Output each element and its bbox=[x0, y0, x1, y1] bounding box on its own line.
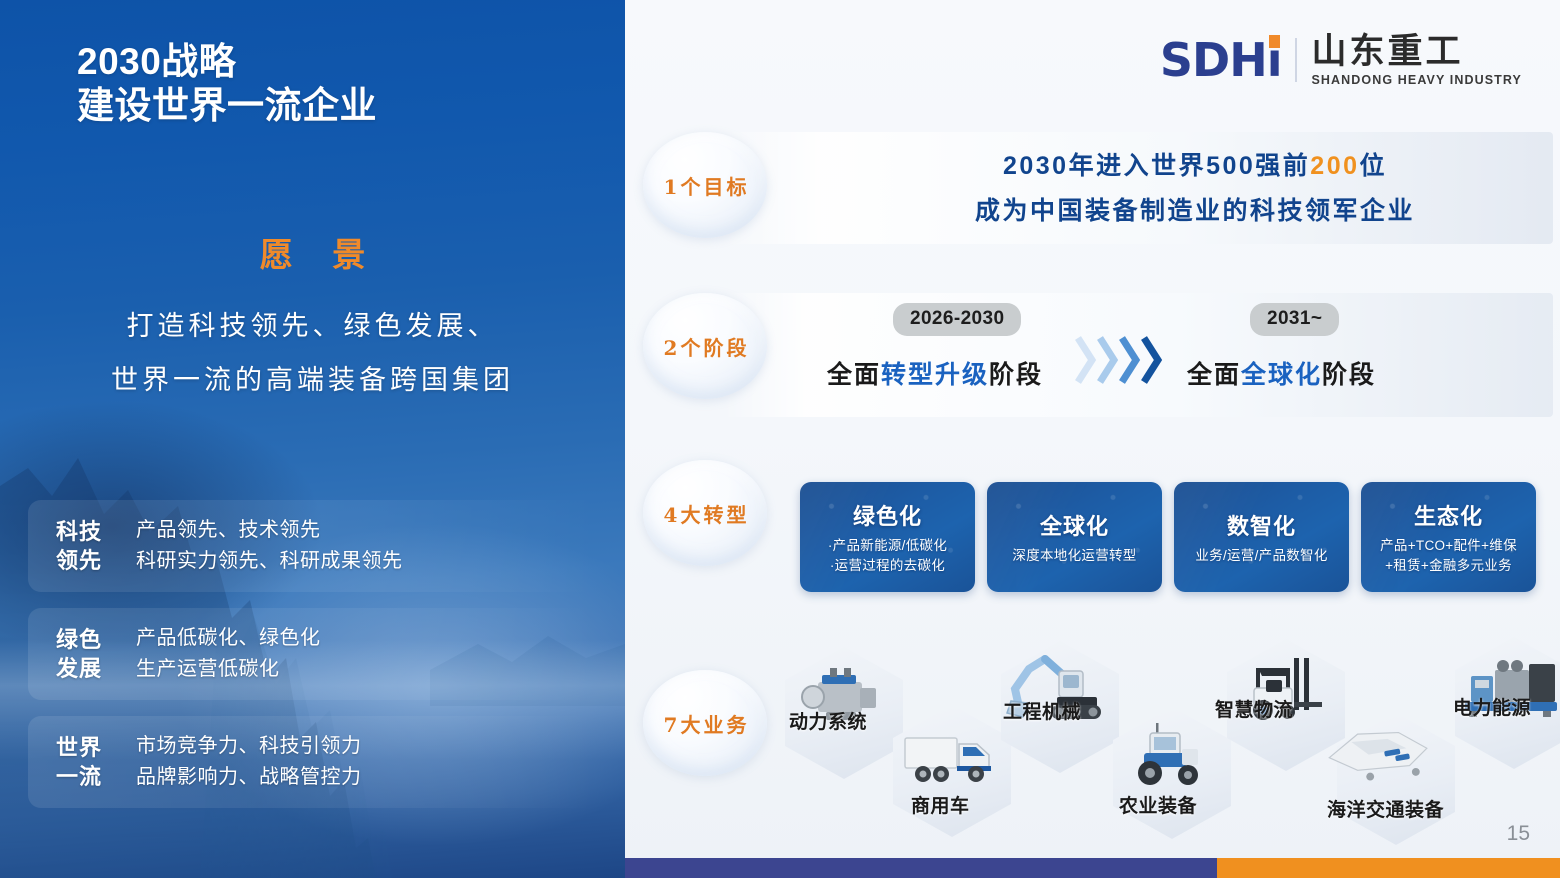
pillar-value-line-2: 生产运营低碳化 bbox=[136, 654, 321, 685]
bubble-businesses[interactable]: 7大业务 bbox=[643, 670, 767, 776]
chevron-right-icon bbox=[1097, 335, 1119, 385]
company-logo: SDHi 山东重工 SHANDONG HEAVY INDUSTRY bbox=[1160, 34, 1522, 87]
pillar-value-line-1: 市场竞争力、科技引领力 bbox=[136, 731, 362, 762]
row-stages: 2个阶段 2026-2030 全面转型升级阶段 2031~ 全面全球化阶段 bbox=[625, 293, 1560, 417]
pillar-value-line-1: 产品低碳化、绿色化 bbox=[136, 623, 321, 654]
slide: 2030战略 建设世界一流企业 愿 景 打造科技领先、绿色发展、 世界一流的高端… bbox=[0, 0, 1560, 878]
logo-accent-dot-icon bbox=[1269, 35, 1280, 48]
engine-icon bbox=[785, 631, 903, 763]
page-number: 15 bbox=[1507, 822, 1530, 846]
pillar-value-line-2: 科研实力领先、科研成果领先 bbox=[136, 546, 403, 577]
pillar-key-line-2: 领先 bbox=[56, 546, 136, 575]
goal-statement: 2030年进入世界500强前200位 成为中国装备制造业的科技领军企业 bbox=[845, 144, 1545, 234]
logo-mark-text: SDHi bbox=[1160, 37, 1282, 83]
business-label-construction: 工程机械 bbox=[1003, 697, 1081, 724]
goal-line-1-pre: 2030年进入世界500强前 bbox=[1003, 152, 1310, 180]
bottom-bar-orange bbox=[1217, 858, 1560, 878]
stage-2-label: 全面全球化阶段 bbox=[1187, 355, 1376, 391]
bubble-transformations-label: 4大转型 bbox=[661, 499, 750, 528]
card-title: 生态化 bbox=[1414, 499, 1483, 531]
right-panel: SDHi 山东重工 SHANDONG HEAVY INDUSTRY 1个目标 2… bbox=[625, 0, 1560, 878]
pillar-value: 产品低碳化、绿色化 生产运营低碳化 bbox=[136, 623, 321, 685]
pillar-list: 科技 领先 产品领先、技术领先 科研实力领先、科研成果领先 绿色 发展 产品低碳… bbox=[28, 500, 598, 824]
pillar-key: 科技 领先 bbox=[28, 517, 136, 575]
pillar-key-line-2: 发展 bbox=[56, 654, 136, 683]
card-desc: 业务/运营/产品数智化 bbox=[1189, 546, 1333, 566]
transformation-card-global[interactable]: 全球化 深度本地化运营转型 bbox=[987, 482, 1162, 592]
logo-mark: SDHi bbox=[1160, 37, 1282, 83]
logo-cn-name: 山东重工 bbox=[1311, 34, 1522, 69]
title-line-2: 建设世界一流企业 bbox=[77, 84, 597, 128]
business-label-agriculture: 农业装备 bbox=[1119, 791, 1197, 818]
vision-statement: 打造科技领先、绿色发展、 世界一流的高端装备跨国集团 bbox=[0, 300, 625, 408]
bubble-businesses-label: 7大业务 bbox=[661, 709, 750, 738]
bottom-accent-bars bbox=[625, 858, 1560, 878]
stage-arrow-icon bbox=[1075, 335, 1163, 385]
card-desc: ·产品新能源/低碳化 ·运营过程的去碳化 bbox=[822, 536, 953, 576]
chevron-right-icon bbox=[1119, 335, 1141, 385]
card-title: 绿色化 bbox=[853, 499, 922, 531]
pillar-key-line-1: 科技 bbox=[56, 517, 136, 546]
pillar-value: 产品领先、技术领先 科研实力领先、科研成果领先 bbox=[136, 515, 403, 577]
transformation-card-green[interactable]: 绿色化 ·产品新能源/低碳化 ·运营过程的去碳化 bbox=[800, 482, 975, 592]
transformation-card-ecosystem[interactable]: 生态化 产品+TCO+配件+维保 +租赁+金融多元业务 bbox=[1361, 482, 1536, 592]
row-goal: 1个目标 2030年进入世界500强前200位 成为中国装备制造业的科技领军企业 bbox=[625, 132, 1560, 244]
stage-1-post: 阶段 bbox=[989, 361, 1043, 389]
stage-2-pre: 全面 bbox=[1187, 361, 1241, 389]
pillar-key-line-2: 一流 bbox=[56, 762, 136, 791]
excavator-icon bbox=[997, 619, 1115, 751]
card-desc: 深度本地化运营转型 bbox=[1006, 546, 1142, 566]
stage-1-pre: 全面 bbox=[827, 361, 881, 389]
pillar-key-line-1: 绿色 bbox=[56, 625, 136, 654]
pillar-key: 世界 一流 bbox=[28, 733, 136, 791]
pillar-item-tech: 科技 领先 产品领先、技术领先 科研实力领先、科研成果领先 bbox=[28, 500, 598, 592]
business-label-power: 动力系统 bbox=[789, 707, 867, 734]
logo-en-name: SHANDONG HEAVY INDUSTRY bbox=[1311, 74, 1522, 87]
business-hex-list: 动力系统 商用车 bbox=[775, 625, 1560, 840]
card-title: 全球化 bbox=[1040, 509, 1109, 541]
title-line-1: 2030战略 bbox=[77, 40, 597, 84]
bubble-stages-label: 2个阶段 bbox=[661, 332, 750, 361]
vision-line-1: 打造科技领先、绿色发展、 bbox=[0, 300, 625, 354]
stage-2-highlight: 全球化 bbox=[1241, 361, 1322, 389]
bubble-goal-label: 1个目标 bbox=[661, 171, 750, 200]
left-panel: 2030战略 建设世界一流企业 愿 景 打造科技领先、绿色发展、 世界一流的高端… bbox=[0, 0, 625, 878]
stage-2-period-badge: 2031~ bbox=[1250, 303, 1339, 336]
goal-line-2: 成为中国装备制造业的科技领军企业 bbox=[845, 189, 1545, 234]
pillar-key: 绿色 发展 bbox=[28, 625, 136, 683]
stage-2-post: 阶段 bbox=[1322, 361, 1376, 389]
stage-1-highlight: 转型升级 bbox=[881, 361, 989, 389]
page-title: 2030战略 建设世界一流企业 bbox=[77, 40, 597, 128]
pillar-value-line-2: 品牌影响力、战略管控力 bbox=[136, 762, 362, 793]
transformation-card-digital[interactable]: 数智化 业务/运营/产品数智化 bbox=[1174, 482, 1349, 592]
bubble-stages[interactable]: 2个阶段 bbox=[643, 293, 767, 399]
pillar-item-green: 绿色 发展 产品低碳化、绿色化 生产运营低碳化 bbox=[28, 608, 598, 700]
card-title: 数智化 bbox=[1227, 509, 1296, 541]
business-label-marine: 海洋交通装备 bbox=[1327, 795, 1444, 822]
chevron-right-icon bbox=[1141, 335, 1163, 385]
generator-icon bbox=[1451, 625, 1560, 757]
business-label-logistics: 智慧物流 bbox=[1215, 695, 1293, 722]
bubble-transformations[interactable]: 4大转型 bbox=[643, 460, 767, 566]
goal-rank-highlight: 200 bbox=[1310, 152, 1359, 180]
logo-names: 山东重工 SHANDONG HEAVY INDUSTRY bbox=[1311, 34, 1522, 87]
row-transformations: 4大转型 绿色化 ·产品新能源/低碳化 ·运营过程的去碳化 全球化 深度本地化运… bbox=[625, 460, 1560, 610]
business-label-truck: 商用车 bbox=[911, 791, 970, 818]
card-desc: 产品+TCO+配件+维保 +租赁+金融多元业务 bbox=[1374, 536, 1523, 576]
row-businesses: 7大业务 动力系统 bbox=[625, 625, 1560, 840]
logo-divider bbox=[1295, 38, 1297, 82]
pillar-key-line-1: 世界 bbox=[56, 733, 136, 762]
goal-line-1: 2030年进入世界500强前200位 bbox=[845, 144, 1545, 189]
business-label-power-energy: 电力能源 bbox=[1453, 693, 1531, 720]
stage-1-period-badge: 2026-2030 bbox=[893, 303, 1021, 336]
bottom-bar-blue bbox=[625, 858, 1217, 878]
pillar-value: 市场竞争力、科技引领力 品牌影响力、战略管控力 bbox=[136, 731, 362, 793]
vision-label: 愿 景 bbox=[0, 228, 625, 276]
goal-line-1-post: 位 bbox=[1360, 152, 1388, 180]
vision-line-2: 世界一流的高端装备跨国集团 bbox=[0, 354, 625, 408]
bubble-goal[interactable]: 1个目标 bbox=[643, 132, 767, 238]
pillar-value-line-1: 产品领先、技术领先 bbox=[136, 515, 403, 546]
chevron-right-icon bbox=[1075, 335, 1097, 385]
stage-1-label: 全面转型升级阶段 bbox=[827, 355, 1043, 391]
transformation-card-list: 绿色化 ·产品新能源/低碳化 ·运营过程的去碳化 全球化 深度本地化运营转型 数… bbox=[800, 482, 1536, 592]
pillar-item-worldclass: 世界 一流 市场竞争力、科技引领力 品牌影响力、战略管控力 bbox=[28, 716, 598, 808]
